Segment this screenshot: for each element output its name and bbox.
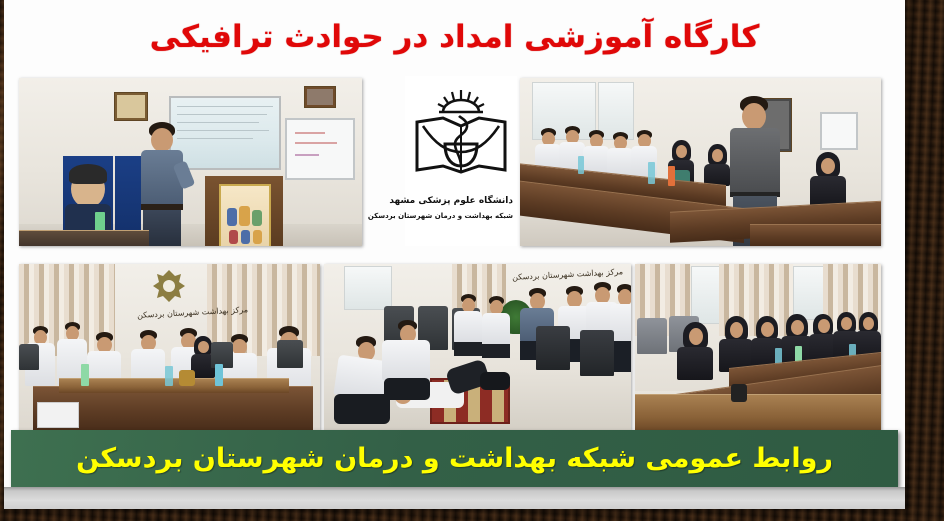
bowl-of-hygieia-book-icon bbox=[409, 86, 513, 196]
health-center-emblem-icon bbox=[149, 268, 189, 304]
logo-line-2: شبکه بهداشت و درمان شهرستان بردسکن bbox=[409, 212, 513, 220]
poster-page: کارگاه آموزشی امداد در حوادث ترافیکی bbox=[0, 0, 944, 521]
photo-ems-staff-scene: مرکز بهداشت شهرستان بردسکن bbox=[19, 264, 320, 431]
photo-conference-room-attendees bbox=[520, 78, 881, 246]
poster-title: کارگاه آموزشی امداد در حوادث ترافیکی bbox=[124, 19, 786, 56]
photo-row-top: دانشگاه علوم پزشکی مشهد شبکه بهداشت و در… bbox=[4, 78, 905, 246]
organization-logo: دانشگاه علوم پزشکی مشهد شبکه بهداشت و در… bbox=[405, 76, 517, 246]
photo-female-participants-scene bbox=[635, 264, 881, 431]
photo-instructor-presenting-scene bbox=[19, 78, 362, 246]
photo-instructor-presenting bbox=[19, 78, 362, 246]
photo-female-participants bbox=[635, 264, 881, 431]
poster-title-bar: کارگاه آموزشی امداد در حوادث ترافیکی bbox=[4, 0, 905, 74]
poster-slide: کارگاه آموزشی امداد در حوادث ترافیکی bbox=[4, 0, 905, 509]
footer-banner-text: روابط عمومی شبکه بهداشت و درمان شهرستان … bbox=[76, 443, 833, 474]
photo-cpr-demonstration: مرکز بهداشت شهرستان بردسکن bbox=[324, 264, 631, 431]
logo-line-1: دانشگاه علوم پزشکی مشهد bbox=[409, 196, 513, 206]
footer-banner: روابط عمومی شبکه بهداشت و درمان شهرستان … bbox=[11, 430, 898, 487]
logo-art: دانشگاه علوم پزشکی مشهد شبکه بهداشت و در… bbox=[409, 86, 513, 236]
photo-cpr-demonstration-scene: مرکز بهداشت شهرستان بردسکن bbox=[324, 264, 631, 431]
photo-conference-room-scene bbox=[520, 78, 881, 246]
photo-ems-staff-seated: مرکز بهداشت شهرستان بردسکن bbox=[19, 264, 320, 431]
footer-strip bbox=[4, 487, 905, 509]
photo-row-bottom: مرکز بهداشت شهرستان بردسکن bbox=[4, 264, 905, 431]
